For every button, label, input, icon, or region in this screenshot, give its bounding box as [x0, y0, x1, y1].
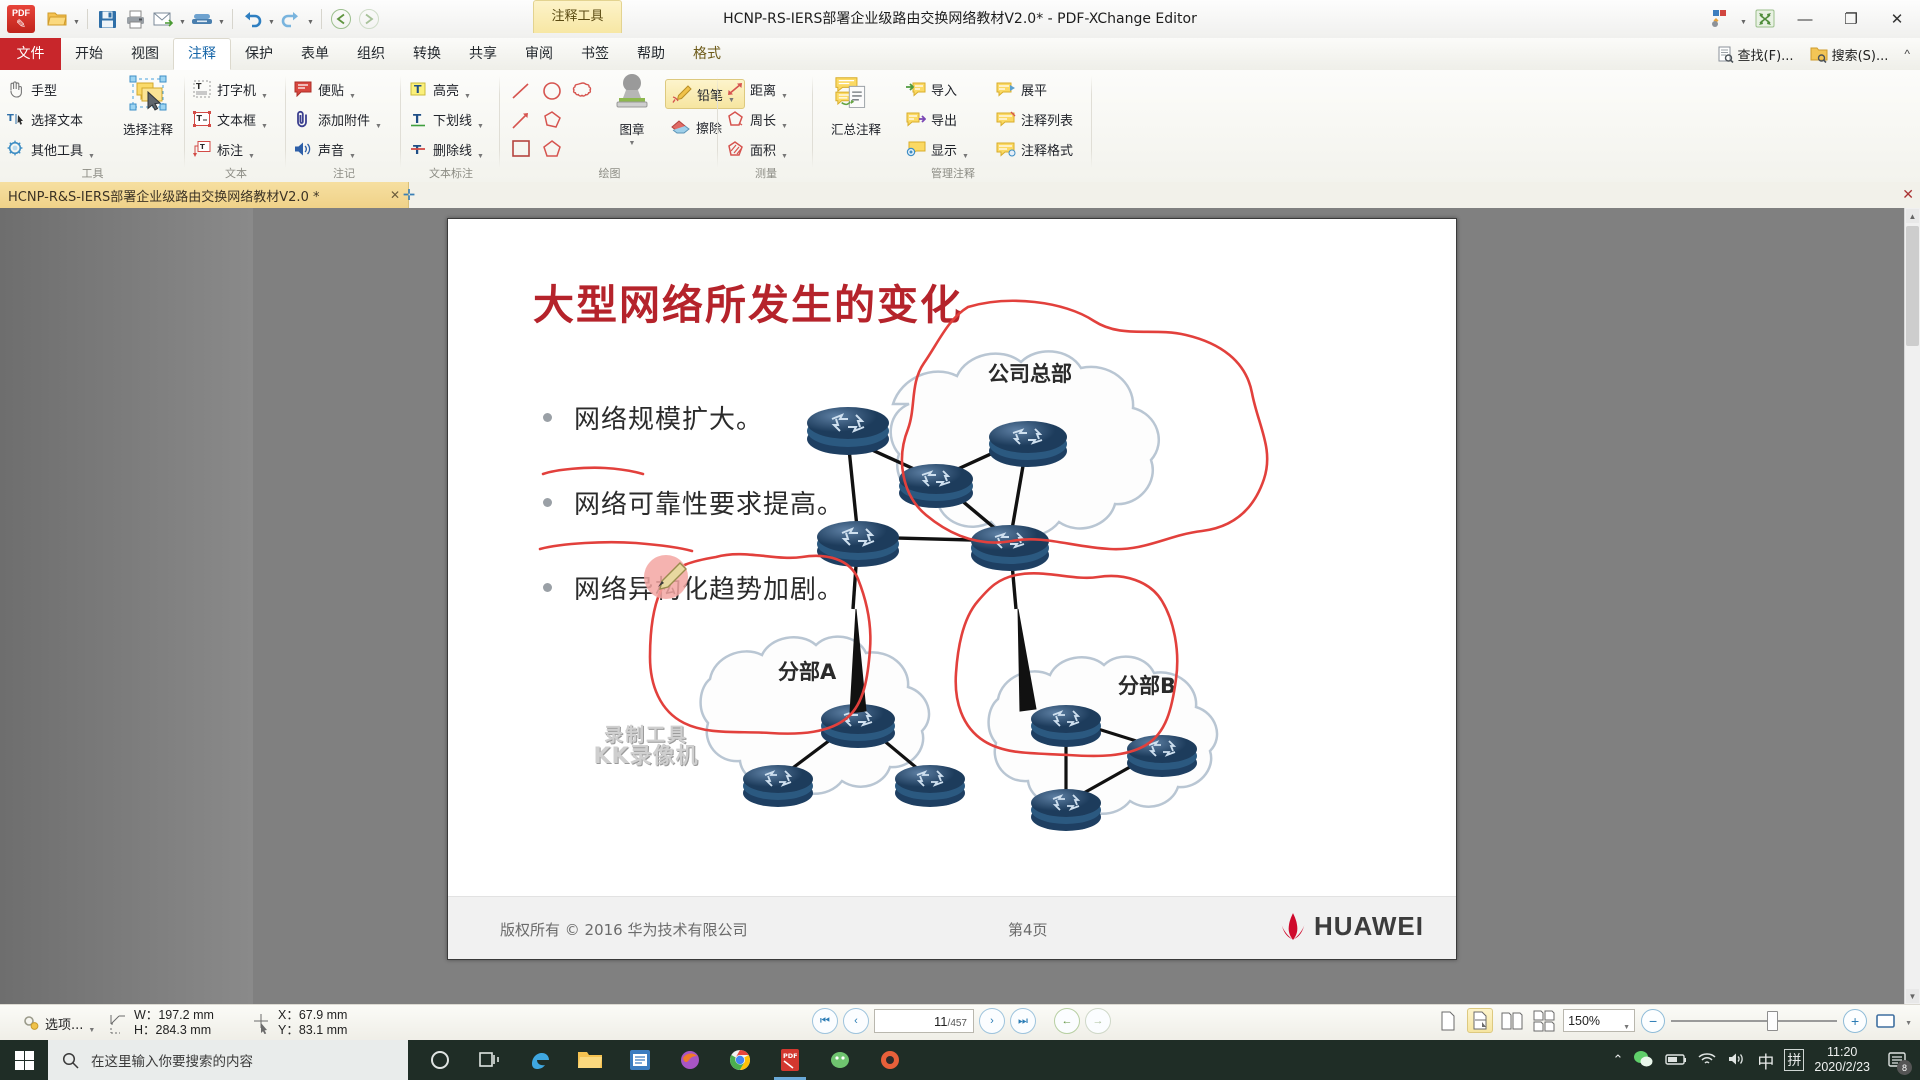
chrome-icon[interactable]: [720, 1040, 760, 1080]
menu-item-share[interactable]: 共享: [455, 38, 511, 70]
menu-item-organize[interactable]: 组织: [343, 38, 399, 70]
group-separator-7: [1091, 76, 1092, 168]
flatten-icon: [996, 79, 1016, 99]
undo-icon[interactable]: [239, 5, 265, 33]
shape-polygon-tool[interactable]: [536, 134, 567, 163]
two-page-view-button[interactable]: [1499, 1009, 1525, 1033]
shape-arrow-tool[interactable]: [505, 105, 536, 134]
shape-line-tool[interactable]: [505, 76, 536, 105]
save-icon[interactable]: [94, 5, 120, 33]
menu-item-form[interactable]: 表单: [287, 38, 343, 70]
tool-hand-label: 手型: [31, 80, 57, 99]
tool-typewriter[interactable]: T 打字机 ▼: [186, 74, 286, 104]
group-label-manage-annotations: 管理注释: [814, 165, 1092, 181]
browser-icon[interactable]: [870, 1040, 910, 1080]
tool-comment-list[interactable]: 注释列表: [990, 104, 1094, 134]
watermark-line1: 录制工具: [581, 724, 711, 746]
qat-separator: [87, 9, 88, 29]
system-tray: ⌃ 中 拼 11:20 2020/2/23 8: [1612, 1040, 1920, 1080]
summarize-comments-label: 汇总注释: [831, 119, 881, 138]
windows-logo-icon: [15, 1051, 34, 1070]
rectangle-icon: [510, 139, 532, 159]
line-icon: [510, 80, 532, 102]
edge-icon[interactable]: [520, 1040, 560, 1080]
menu-file[interactable]: 文件: [0, 38, 61, 70]
ribbon: 手型 T 选择文本 其他工具 ▼: [0, 70, 1920, 183]
next-page-button[interactable]: ›: [979, 1008, 1005, 1034]
find-action[interactable]: 查找(F)...: [1711, 41, 1800, 67]
last-page-button[interactable]: ⏭: [1010, 1008, 1036, 1034]
eraser-icon: [671, 117, 691, 137]
app-logo-icon: PDF✎: [7, 5, 35, 33]
taskbar-search-placeholder: 在这里输入你要搜索的内容: [91, 1050, 253, 1070]
ribbon-group-notes: 便贴 ▼ 添加附件 ▼ 声音 ▼ 注记: [287, 70, 401, 182]
polyline-icon: [541, 109, 563, 131]
attachment-icon: [293, 109, 313, 129]
import-icon: [906, 79, 926, 99]
distance-icon: [725, 79, 745, 99]
tool-callout[interactable]: T 标注 ▼: [186, 134, 286, 164]
dimension-values: W：197.2 mm H：284.3 mm: [134, 1008, 214, 1038]
ribbon-group-text-markup: T 高亮 ▼ T 下划线 ▼ T 删除线 ▼: [402, 70, 500, 182]
back-icon[interactable]: [328, 5, 354, 33]
highlight-dropdown-icon[interactable]: ▼: [464, 93, 471, 104]
menu-item-format[interactable]: 格式: [679, 38, 735, 70]
cursor-position: X：67.9 mm Y：83.1 mm: [252, 1008, 347, 1038]
cursor-values: X：67.9 mm Y：83.1 mm: [278, 1008, 347, 1038]
shape-ellipse-tool[interactable]: [536, 76, 567, 105]
ellipse-icon: [541, 80, 563, 102]
wechat-icon[interactable]: [1633, 1050, 1653, 1071]
distance-dropdown-icon[interactable]: ▼: [781, 93, 788, 104]
ribbon-group-tools: 手型 T 选择文本 其他工具 ▼: [0, 70, 185, 182]
search-label: 搜索(S)...: [1832, 45, 1889, 64]
search-icon: [62, 1052, 79, 1069]
cloud-icon: [572, 80, 594, 102]
y-value: 83.1 mm: [299, 1023, 348, 1037]
group-label-text-markup: 文本标注: [402, 165, 500, 181]
select-text-icon: T: [6, 109, 26, 129]
group-separator-6: [812, 76, 813, 168]
shape-grid-empty: [567, 105, 598, 134]
customize-dropdown-icon[interactable]: ▼: [1739, 5, 1748, 33]
tool-export-label: 导出: [931, 110, 957, 129]
tool-underline[interactable]: T 下划线 ▼: [402, 104, 500, 134]
taskbar-clock[interactable]: 11:20 2020/2/23: [1814, 1045, 1870, 1075]
group-label-text: 文本: [186, 165, 286, 181]
tool-import-comments[interactable]: 导入: [900, 74, 988, 104]
undo-dropdown-icon[interactable]: ▼: [267, 5, 276, 33]
shape-cloud-tool[interactable]: [567, 76, 598, 105]
width-value: 197.2 mm: [158, 1008, 214, 1022]
current-page-value: 11: [934, 1014, 948, 1029]
x-value: 67.9 mm: [299, 1008, 348, 1022]
title-bar: PDF✎ ▼ ▼ ▼ ▼: [0, 0, 1920, 39]
fit-page-dropdown-icon[interactable]: ▼: [1905, 1020, 1912, 1033]
ribbon-group-measure: 距离 ▼ 周长 ▼ 面积 ▼ 测量: [719, 70, 813, 182]
tool-sticky-note-label: 便贴: [318, 80, 344, 99]
nav-forward-button[interactable]: →: [1085, 1008, 1111, 1034]
windows-taskbar: 在这里输入你要搜索的内容 PDF ⌃ 中 拼 11:20 2020/2/23: [0, 1040, 1920, 1080]
menu-item-help[interactable]: 帮助: [623, 38, 679, 70]
callout-icon: T: [192, 139, 212, 159]
x-label: X：: [278, 1008, 299, 1022]
export-icon: [906, 109, 926, 129]
scan-icon[interactable]: [189, 5, 215, 33]
tool-other-tools-label: 其他工具: [31, 140, 83, 159]
collapse-ribbon-button[interactable]: ^: [1898, 41, 1916, 67]
shape-grid-empty-2: [567, 134, 598, 163]
zoom-dropdown-icon[interactable]: ▼: [1623, 1024, 1630, 1031]
shape-polyline-tool[interactable]: [536, 105, 567, 134]
sticky-note-dropdown-icon[interactable]: ▼: [349, 93, 356, 104]
tool-flatten-comments[interactable]: 展平: [990, 74, 1094, 104]
stamp-label: 图章: [619, 119, 644, 138]
taskbar-search-box[interactable]: 在这里输入你要搜索的内容: [48, 1040, 408, 1080]
height-value: 284.3 mm: [156, 1023, 212, 1037]
email-dropdown-icon[interactable]: ▼: [178, 5, 187, 33]
notification-center-button[interactable]: 8: [1880, 1040, 1914, 1080]
comment-list-icon: [996, 109, 1016, 129]
menu-item-bookmark[interactable]: 书签: [567, 38, 623, 70]
qat-separator-3: [321, 9, 322, 29]
qat-separator-2: [232, 9, 233, 29]
footer-copyright: 版权所有 © 2016 华为技术有限公司: [500, 919, 747, 940]
two-page-icon: [1501, 1011, 1523, 1031]
tool-attachment[interactable]: 添加附件 ▼: [287, 104, 401, 134]
tool-comment-styles-label: 注释格式: [1021, 140, 1073, 159]
tool-sticky-note[interactable]: 便贴 ▼: [287, 74, 401, 104]
svg-text:T: T: [413, 112, 422, 126]
quick-access-toolbar: ▼ ▼ ▼ ▼ ▼: [44, 3, 382, 35]
perimeter-dropdown-icon[interactable]: ▼: [781, 123, 788, 134]
stamp-icon: [610, 73, 654, 117]
tool-area-label: 面积: [750, 140, 776, 159]
close-all-tabs-button[interactable]: ✕: [1902, 186, 1914, 203]
footer-page-number: 第4页: [1008, 919, 1048, 940]
single-page-view-button[interactable]: [1435, 1009, 1461, 1033]
group-separator-1: [184, 76, 185, 168]
width-label: W：: [134, 1008, 158, 1022]
total-pages-value: 457: [950, 1018, 967, 1029]
search-icon: [1810, 46, 1828, 63]
tool-attachment-label: 添加附件: [318, 110, 370, 129]
print-icon[interactable]: [122, 5, 148, 33]
y-label: Y：: [278, 1023, 299, 1037]
tool-flatten-label: 展平: [1021, 80, 1047, 99]
document-tab-label: HCNP-R&S-IERS部署企业级路由交换网络教材V2.0 *: [8, 186, 380, 205]
ribbon-group-text: T 打字机 ▼ T 文本框 ▼ T 标注 ▼: [186, 70, 286, 182]
zoom-slider-track: [1671, 1020, 1837, 1022]
document-tab[interactable]: HCNP-R&S-IERS部署企业级路由交换网络教材V2.0 * ✕: [0, 182, 409, 208]
pencil-cursor: [644, 555, 688, 599]
tool-strikeout[interactable]: T 删除线 ▼: [402, 134, 500, 164]
customize-icon[interactable]: [1705, 4, 1739, 34]
svg-text:T: T: [7, 113, 14, 124]
typewriter-icon: T: [192, 79, 212, 99]
four-page-view-button[interactable]: [1531, 1009, 1557, 1033]
pencil-annotations[interactable]: [448, 219, 1456, 959]
underline-dropdown-icon[interactable]: ▼: [477, 123, 484, 134]
sticky-note-icon: [293, 79, 313, 99]
options-dropdown-icon[interactable]: ▼: [88, 1027, 95, 1036]
single-page-icon: [1440, 1011, 1456, 1031]
titlebar-right: ▼ — ❐ ✕: [1705, 0, 1920, 38]
group-label-notes: 注记: [287, 165, 401, 181]
zoom-slider-knob[interactable]: [1767, 1011, 1778, 1031]
page-number-input[interactable]: 11/457: [874, 1009, 974, 1033]
zoom-slider[interactable]: [1671, 1011, 1837, 1031]
tool-distance-label: 距离: [750, 80, 776, 99]
context-tab-annotation-tools[interactable]: 注释工具: [533, 0, 622, 33]
tool-callout-label: 标注: [217, 140, 243, 159]
group-label-measure: 测量: [719, 165, 813, 181]
scroll-up-icon[interactable]: ▲: [1906, 209, 1919, 223]
underline-icon: T: [408, 109, 428, 129]
taskbar-items: PDF: [420, 1040, 910, 1080]
sound-dropdown-icon[interactable]: ▼: [349, 153, 356, 164]
show-dropdown-icon[interactable]: ▼: [962, 153, 969, 164]
summarize-comments-icon: [834, 73, 878, 117]
show-icon: [906, 139, 926, 159]
fit-page-icon: [1876, 1013, 1896, 1029]
continuous-view-icon: [1473, 1011, 1488, 1030]
find-label: 查找(F)...: [1738, 45, 1794, 64]
scroll-down-icon[interactable]: ▼: [1906, 989, 1919, 1003]
first-page-button[interactable]: ⏮: [812, 1008, 838, 1034]
stamp-dropdown-icon[interactable]: ▼: [629, 140, 636, 151]
zoom-level-value: 150%: [1568, 1014, 1600, 1028]
ribbon-group-manage-annotations: 汇总注释 导入 导出: [814, 70, 1092, 182]
tool-strikeout-label: 删除线: [433, 140, 472, 159]
zoom-in-button[interactable]: +: [1843, 1009, 1867, 1033]
summarize-comments-button[interactable]: 汇总注释: [814, 73, 898, 138]
zoom-level-select[interactable]: 150% ▼: [1563, 1009, 1635, 1032]
sound-icon: [293, 139, 313, 159]
four-page-icon: [1533, 1010, 1555, 1032]
file-explorer-icon[interactable]: [570, 1040, 610, 1080]
tool-sound[interactable]: 声音 ▼: [287, 134, 401, 164]
tool-comment-styles[interactable]: 注释格式: [990, 134, 1094, 164]
email-icon[interactable]: [150, 5, 176, 33]
group-label-tools: 工具: [0, 165, 185, 181]
callout-dropdown-icon[interactable]: ▼: [248, 153, 255, 164]
ime-mode-indicator[interactable]: 中: [1757, 1048, 1774, 1073]
tool-distance[interactable]: 距离 ▼: [719, 74, 813, 104]
menu-item-start[interactable]: 开始: [61, 38, 117, 70]
scrollbar-thumb[interactable]: [1906, 226, 1919, 346]
attachment-dropdown-icon[interactable]: ▼: [375, 123, 382, 134]
find-icon: [1717, 46, 1734, 63]
group-separator-4: [499, 76, 500, 168]
tool-import-label: 导入: [931, 80, 957, 99]
tool-perimeter[interactable]: 周长 ▼: [719, 104, 813, 134]
perimeter-icon: [725, 109, 745, 129]
maximize-button[interactable]: ❐: [1828, 0, 1874, 38]
strikeout-icon: T: [408, 139, 428, 159]
typewriter-dropdown-icon[interactable]: ▼: [261, 93, 268, 104]
tool-select-text-label: 选择文本: [31, 110, 83, 129]
svg-text:T: T: [200, 143, 205, 151]
qq-icon[interactable]: [820, 1040, 860, 1080]
huawei-wordmark: HUAWEI: [1314, 911, 1424, 942]
redo-icon[interactable]: [278, 5, 304, 33]
search-action[interactable]: 搜索(S)...: [1804, 41, 1895, 67]
page-dimensions: W：197.2 mm H：284.3 mm: [108, 1008, 214, 1038]
tool-hand[interactable]: 手型: [0, 74, 110, 104]
pencil-icon: [672, 84, 692, 104]
menu-right-actions: 查找(F)... 搜索(S)... ^: [1711, 38, 1916, 70]
watermark-line2: KK录像机: [581, 746, 711, 768]
tool-underline-label: 下划线: [433, 110, 472, 129]
comment-styles-icon: [996, 139, 1016, 159]
area-icon: [725, 139, 745, 159]
ime-pinyin-indicator[interactable]: 拼: [1784, 1049, 1804, 1071]
close-button[interactable]: ✕: [1874, 0, 1920, 38]
previous-page-button[interactable]: ‹: [843, 1008, 869, 1034]
menu-item-convert[interactable]: 转换: [399, 38, 455, 70]
slide-footer: 版权所有 © 2016 华为技术有限公司 第4页 HUAWEI: [448, 896, 1456, 959]
redo-dropdown-icon[interactable]: ▼: [306, 5, 315, 33]
open-icon[interactable]: [44, 5, 70, 33]
other-tools-dropdown-icon[interactable]: ▼: [88, 153, 95, 164]
firefox-dev-icon[interactable]: [670, 1040, 710, 1080]
options-button[interactable]: 选项... ▼: [22, 1010, 95, 1036]
dimensions-icon: [108, 1012, 128, 1034]
start-button[interactable]: [0, 1040, 48, 1080]
select-annotation-icon: [126, 73, 170, 117]
ribbon-group-drawing: 图章 ▼ 铅笔 ▼ 擦除 绘图: [501, 70, 718, 182]
other-tools-icon: [6, 139, 26, 159]
svg-text:PDF: PDF: [783, 1052, 798, 1060]
wifi-icon[interactable]: [1697, 1051, 1717, 1070]
tool-sound-label: 声音: [318, 140, 344, 159]
area-dropdown-icon[interactable]: ▼: [781, 153, 788, 164]
minimize-button[interactable]: —: [1782, 0, 1828, 38]
tool-textbox-label: 文本框: [217, 110, 256, 129]
tool-perimeter-label: 周长: [750, 110, 776, 129]
tool-highlight-label: 高亮: [433, 80, 459, 99]
huawei-logo: HUAWEI: [1280, 911, 1424, 942]
new-tab-button[interactable]: ✛: [398, 185, 420, 205]
shape-rectangle-tool[interactable]: [505, 134, 536, 163]
group-separator-3: [400, 76, 401, 168]
menu-items: 开始 视图 注释 保护 表单 组织 转换 共享 审阅 书签 帮助 格式: [61, 38, 735, 70]
textbox-dropdown-icon[interactable]: ▼: [261, 123, 268, 134]
clock-date: 2020/2/23: [1814, 1060, 1870, 1075]
pdf-page[interactable]: 大型网络所发生的变化 网络规模扩大。 网络可靠性要求提高。 网络异构化趋势加剧。: [447, 218, 1457, 960]
fit-page-button[interactable]: [1873, 1009, 1899, 1033]
strikeout-dropdown-icon[interactable]: ▼: [477, 153, 484, 164]
document-viewport[interactable]: 大型网络所发生的变化 网络规模扩大。 网络可靠性要求提高。 网络异构化趋势加剧。: [0, 208, 1920, 1004]
tool-area[interactable]: 面积 ▼: [719, 134, 813, 164]
group-separator-2: [285, 76, 286, 168]
volume-icon[interactable]: [1727, 1051, 1747, 1070]
viewport-scrollbar[interactable]: ▲ ▼: [1904, 208, 1920, 1004]
tool-export-comments[interactable]: 导出: [900, 104, 988, 134]
pdf-xchange-icon[interactable]: PDF: [770, 1040, 810, 1080]
tool-highlight[interactable]: T 高亮 ▼: [402, 74, 500, 104]
menu-item-review[interactable]: 审阅: [511, 38, 567, 70]
svg-text:T: T: [196, 82, 202, 91]
select-annotation-button[interactable]: 选择注释: [112, 73, 184, 138]
tool-typewriter-label: 打字机: [217, 80, 256, 99]
group-label-drawing: 绘图: [501, 165, 718, 181]
wps-icon[interactable]: [620, 1040, 660, 1080]
task-view-icon[interactable]: [470, 1040, 510, 1080]
open-dropdown-icon[interactable]: ▼: [72, 5, 81, 33]
hand-icon: [6, 79, 26, 99]
highlight-icon: T: [408, 79, 428, 99]
pdf-xchange-editor-window: PDF✎ ▼ ▼ ▼ ▼: [0, 0, 1920, 1080]
huawei-flower-icon: [1280, 912, 1306, 942]
svg-text:T: T: [414, 83, 422, 96]
battery-icon[interactable]: [1663, 1052, 1687, 1069]
continuous-view-button[interactable]: [1467, 1008, 1493, 1033]
tool-textbox[interactable]: T 文本框 ▼: [186, 104, 286, 134]
notification-badge: 8: [1897, 1060, 1912, 1075]
cortana-icon[interactable]: [420, 1040, 460, 1080]
menu-item-view[interactable]: 视图: [117, 38, 173, 70]
group-separator-5: [717, 76, 718, 168]
options-label: 选项...: [45, 1014, 83, 1033]
tool-show-comments[interactable]: 显示 ▼: [900, 134, 988, 164]
fullscreen-icon[interactable]: [1748, 4, 1782, 34]
tool-other-tools[interactable]: 其他工具 ▼: [0, 134, 110, 164]
polygon-icon: [541, 139, 563, 159]
gear-icon: [22, 1014, 40, 1032]
nav-back-button[interactable]: ←: [1054, 1008, 1080, 1034]
menu-item-protect[interactable]: 保护: [231, 38, 287, 70]
tray-expand-icon[interactable]: ⌃: [1612, 1052, 1623, 1068]
zoom-out-button[interactable]: −: [1641, 1009, 1665, 1033]
forward-icon[interactable]: [356, 5, 382, 33]
crosshair-icon: [252, 1012, 272, 1034]
document-tab-strip: HCNP-R&S-IERS部署企业级路由交换网络教材V2.0 * ✕ ✛ ✕: [0, 182, 1920, 209]
viewport-left-shade: [0, 208, 253, 1004]
stamp-button[interactable]: 图章 ▼: [601, 73, 663, 151]
height-label: H：: [134, 1023, 156, 1037]
page-navigation: ⏮ ‹ 11/457 › ⏭ ← →: [812, 1008, 1111, 1034]
screen-recorder-watermark: 录制工具 KK录像机: [581, 724, 711, 768]
clock-time: 11:20: [1814, 1045, 1870, 1060]
view-controls: 150% ▼ − + ▼: [1435, 1008, 1912, 1033]
arrow-icon: [510, 109, 532, 131]
menu-item-comment[interactable]: 注释: [173, 38, 231, 70]
tool-select-text[interactable]: T 选择文本: [0, 104, 110, 134]
select-annotation-label: 选择注释: [123, 119, 173, 138]
tool-comment-list-label: 注释列表: [1021, 110, 1073, 129]
tool-show-label: 显示: [931, 140, 957, 159]
svg-text:T: T: [197, 114, 203, 123]
scan-dropdown-icon[interactable]: ▼: [217, 5, 226, 33]
menu-bar: 文件 开始 视图 注释 保护 表单 组织 转换 共享 审阅 书签 帮助 格式 查…: [0, 38, 1920, 71]
svg-text:T: T: [413, 143, 422, 157]
status-bar: 选项... ▼ W：197.2 mm H：284.3 mm X：67.9 mm …: [0, 1004, 1920, 1041]
textbox-icon: T: [192, 109, 212, 129]
